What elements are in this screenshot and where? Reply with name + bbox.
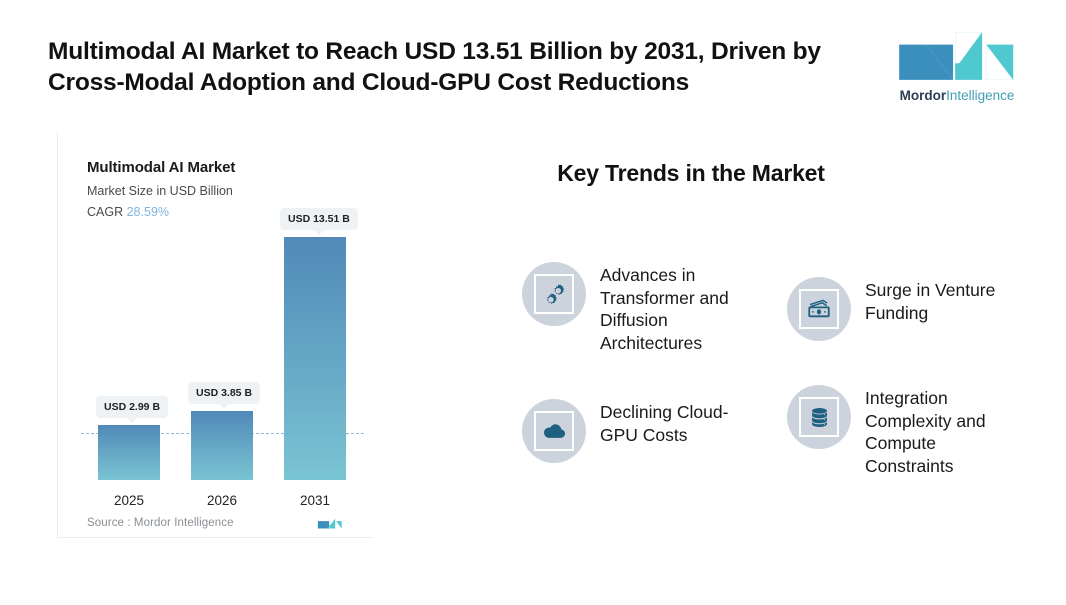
bar-label-2026: USD 3.85 B	[188, 382, 260, 404]
trend-icon-wrapper	[522, 262, 586, 326]
icon-frame	[799, 397, 839, 437]
trend-icon-wrapper	[522, 399, 586, 463]
mordor-m-logo-icon	[317, 515, 343, 532]
headline-line-2: Cross-Modal Adoption and Cloud-GPU Cost …	[48, 67, 868, 98]
trend-icon-wrapper	[787, 277, 851, 341]
brand-logo: MordorIntelligence	[894, 28, 1020, 103]
trend-item-cloud-gpu-costs: Declining Cloud-GPU Costs	[522, 399, 757, 463]
bar-2025	[98, 425, 160, 480]
trend-label: Integration Complexity and Compute Const…	[865, 385, 1022, 477]
brand-name-light: Intelligence	[946, 88, 1014, 103]
bar-chart-plot: USD 2.99 B USD 3.85 B USD 13.51 B 2025 2…	[58, 132, 374, 538]
brand-name: MordorIntelligence	[894, 88, 1020, 103]
trend-item-venture-funding: Surge in Venture Funding	[787, 277, 1022, 341]
bar-label-2031: USD 13.51 B	[280, 208, 358, 230]
bar-label-2025: USD 2.99 B	[96, 396, 168, 418]
trend-label: Advances in Transformer and Diffusion Ar…	[600, 262, 757, 354]
chart-card: Multimodal AI Market Market Size in USD …	[57, 132, 373, 538]
trend-icon-wrapper	[787, 385, 851, 449]
brand-name-bold: Mordor	[900, 88, 947, 103]
trend-item-integration-complexity: Integration Complexity and Compute Const…	[787, 385, 1022, 477]
banknotes-icon	[806, 296, 832, 322]
bar-2026	[191, 411, 253, 480]
mordor-m-logo-icon	[895, 28, 1019, 84]
chart-source: Source : Mordor Intelligence	[87, 517, 234, 529]
x-tick-2026: 2026	[191, 493, 253, 508]
page-title: Multimodal AI Market to Reach USD 13.51 …	[48, 36, 868, 98]
infographic-page: Multimodal AI Market to Reach USD 13.51 …	[0, 0, 1066, 605]
x-tick-2031: 2031	[284, 493, 346, 508]
page-header: Multimodal AI Market to Reach USD 13.51 …	[48, 36, 868, 98]
x-tick-2025: 2025	[98, 493, 160, 508]
database-icon	[807, 405, 832, 430]
cloud-icon	[541, 418, 568, 445]
headline-line-1: Multimodal AI Market to Reach USD 13.51 …	[48, 38, 821, 65]
trend-item-transformer: Advances in Transformer and Diffusion Ar…	[522, 262, 757, 354]
bar-2031	[284, 237, 346, 480]
icon-frame	[534, 411, 574, 451]
gears-icon	[541, 281, 567, 307]
icon-frame	[534, 274, 574, 314]
trend-label: Declining Cloud-GPU Costs	[600, 399, 757, 446]
trend-label: Surge in Venture Funding	[865, 277, 1022, 324]
trends-heading: Key Trends in the Market	[536, 160, 846, 187]
icon-frame	[799, 289, 839, 329]
